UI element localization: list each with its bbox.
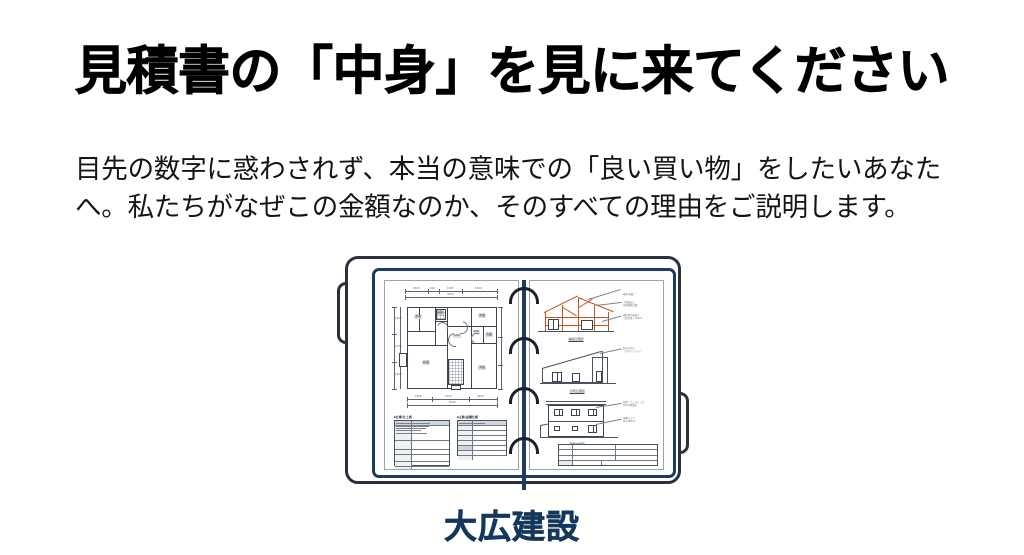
annotation-text: 外壁：サイディング16mm窯業系	[623, 401, 644, 407]
binder-cover: 1820 910 1365 1820 9100 1820	[345, 256, 681, 484]
slide-root: 見積書の「中身」を見に来てください 目先の数字に惑わされず、本当の意味での「良い…	[0, 0, 1024, 555]
entry-porch	[451, 385, 461, 390]
body-paragraph: 目先の数字に惑わされず、本当の意味での「良い買い物」をしたいあなたへ。私たちがな…	[75, 150, 953, 226]
room-label: 和室	[422, 361, 430, 365]
stairs-hatch	[448, 359, 464, 385]
room-label: 洗面	[485, 333, 493, 337]
binder-illustration: 1820 910 1365 1820 9100 1820	[337, 256, 689, 484]
side-elevation-caption: 北側立面図	[569, 389, 584, 393]
floor-plan-page: 1820 910 1365 1820 9100 1820	[384, 280, 519, 470]
page-title: 見積書の「中身」を見に来てください	[75, 43, 949, 103]
room-label: 洋室	[478, 314, 486, 318]
bath-hatch	[436, 309, 446, 320]
elevation-page: 軸組立面図 棟木・母屋 小屋筋交い金物補強位置 構造用合板張り（耐力壁）t=9m…	[529, 280, 664, 470]
company-name: 大広建設	[0, 500, 1024, 548]
annotation-text: 構造用合板張り（耐力壁）t=9mm	[623, 314, 642, 320]
binder-inner-frame: 1820 910 1365 1820 9100 1820	[372, 268, 676, 478]
annotation-text: 軒先水切り（ガルバリウム）	[623, 347, 642, 353]
binder-spine	[522, 280, 526, 490]
room-label: 洋室	[478, 366, 486, 370]
drawing-title-block	[558, 444, 658, 466]
annotation-text: 基礎立上りGL+400mm	[623, 417, 636, 423]
annotation-text: 小屋筋交い金物補強位置	[623, 301, 637, 307]
framing-section-caption: 軸組立面図	[568, 337, 583, 341]
balcony	[399, 353, 407, 367]
structural-framing-section: 軸組立面図	[538, 295, 614, 335]
spec-table-2	[457, 420, 507, 456]
spec-table-2-title: ■主要・設備仕様	[457, 415, 478, 419]
spec-table-1-title: ■仕様・仕上表	[394, 415, 412, 419]
spec-table-1	[394, 420, 450, 466]
annotation-text: 棟木・母屋	[623, 293, 633, 296]
room-label: 洋室	[414, 315, 422, 319]
